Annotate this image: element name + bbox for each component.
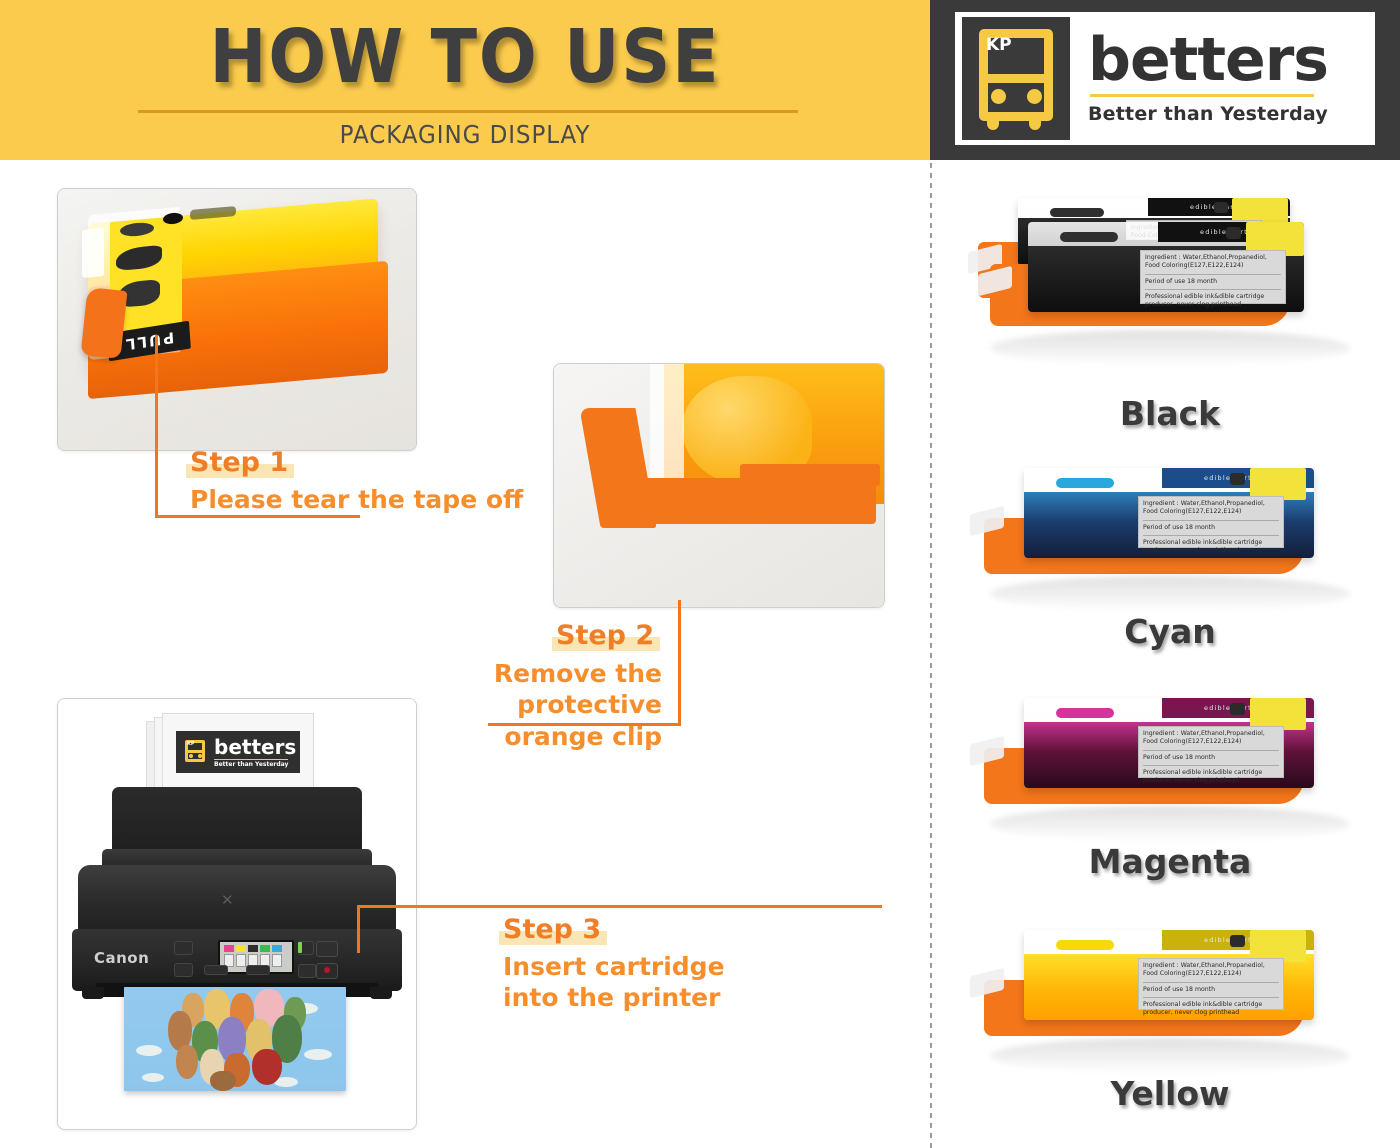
- printer-ok-button[interactable]: [298, 964, 316, 978]
- brand-logo: KP betters Better than Yesterday: [955, 12, 1375, 145]
- brand-name: betters: [1088, 32, 1362, 89]
- panel-divider: [930, 163, 932, 1148]
- cartridge-black: edible cartridge Ingredient : Water,Etha…: [960, 190, 1380, 433]
- printer-left-button[interactable]: [204, 965, 228, 975]
- step-2-connector-vertical: [678, 600, 681, 726]
- cartridge-info-yellow: Ingredient : Water,Ethanol,Propanediol, …: [1138, 958, 1284, 1010]
- step-1-photo: PULL: [57, 188, 417, 451]
- orange-clip: [81, 287, 128, 359]
- step-2-photo: [553, 363, 885, 608]
- step-3-photo: KP betters Better than Yesterday PREMIUM…: [57, 698, 417, 1130]
- cartridge-label-cyan: Cyan: [960, 612, 1380, 651]
- cartridge-label-magenta: Magenta: [960, 842, 1380, 881]
- page-header: HOW TO USE PACKAGING DISPLAY KP betters …: [0, 0, 1400, 160]
- page-title: HOW TO USE: [37, 14, 893, 100]
- printer-brand-label: Canon: [94, 949, 149, 967]
- printer-back-button[interactable]: [174, 963, 193, 977]
- title-divider-rule: [138, 110, 798, 113]
- step-3-description: Insert cartridge into the printer: [503, 951, 725, 1014]
- cartridge-info-cyan: Ingredient : Water,Ethanol,Propanediol, …: [1138, 496, 1284, 548]
- step-3-title: Step 3: [503, 914, 601, 945]
- cartridge-label-black: Black: [960, 394, 1380, 433]
- brand-mark-text: KP: [986, 35, 1012, 55]
- printed-photo-output: [124, 987, 346, 1091]
- step-1-connector-horizontal: [155, 515, 360, 518]
- brand-tagline: Better than Yesterday: [1088, 103, 1362, 125]
- cartridge-info-magenta: Ingredient : Water,Ethanol,Propanediol, …: [1138, 726, 1284, 778]
- step-1-connector-vertical: [155, 335, 158, 518]
- printer-stop-button[interactable]: [316, 963, 338, 979]
- step-1-title: Step 1: [190, 447, 288, 478]
- step-1-description: Please tear the tape off: [190, 484, 523, 515]
- paper-brand-tagline: Better than Yesterday: [214, 761, 300, 768]
- cartridge-magenta: edible cartridge Ingredient : Water,Etha…: [960, 680, 1380, 881]
- printer-eye-button[interactable]: [174, 941, 193, 955]
- printer-power-button[interactable]: [316, 941, 338, 957]
- paper-brand-logo: KP betters Better than Yesterday: [176, 731, 300, 773]
- step-3-connector-vertical: [357, 905, 360, 953]
- paper-bus-icon: KP: [181, 737, 209, 767]
- cartridge-label-yellow: Yellow: [960, 1074, 1380, 1113]
- printer-status-led: [298, 942, 302, 953]
- step-2-title: Step 2: [556, 620, 654, 651]
- bus-icon: KP: [962, 17, 1070, 140]
- page-subtitle: PACKAGING DISPLAY: [37, 120, 893, 149]
- wireless-icon: ✕: [221, 891, 234, 909]
- step-3-connector-horizontal: [357, 905, 882, 908]
- cartridge-info-black: Ingredient : Water,Ethanol,Propanediol, …: [1140, 250, 1286, 304]
- cartridge-yellow: edible cartridge Ingredient : Water,Etha…: [960, 912, 1380, 1113]
- paper-brand-name: betters: [214, 737, 300, 757]
- printer-right-button[interactable]: [246, 965, 270, 975]
- cartridge-cyan: edible cartridge Ingredient : Water,Etha…: [960, 450, 1380, 651]
- protective-clip-closeup: [590, 408, 870, 528]
